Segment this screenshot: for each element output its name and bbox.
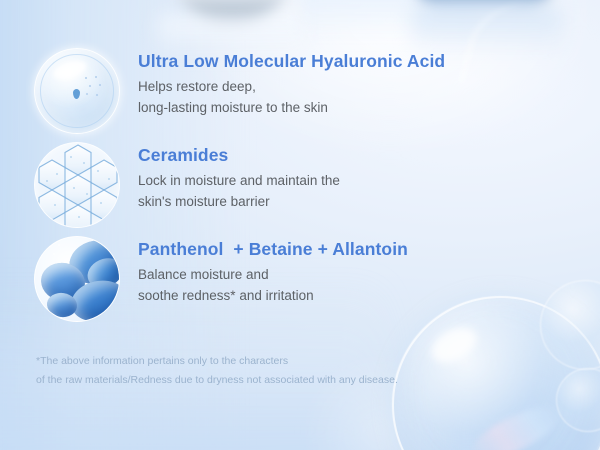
droplet-molecule-specks bbox=[83, 75, 105, 99]
blue-gel-capsules-icon bbox=[34, 236, 120, 322]
feature-title: Ultra Low Molecular Hyaluronic Acid bbox=[138, 50, 445, 72]
gel-capsules-body bbox=[34, 236, 120, 322]
footnote-line: *The above information pertains only to … bbox=[36, 352, 398, 371]
feature-text-block: Panthenol + Betaine + Allantoin Balance … bbox=[138, 236, 408, 306]
feature-description-line: Balance moisture and bbox=[138, 264, 408, 285]
feature-title: Ceramides bbox=[138, 144, 340, 166]
feature-row-hyaluronic-acid: Ultra Low Molecular Hyaluronic Acid Help… bbox=[34, 48, 445, 134]
feature-description-line: skin's moisture barrier bbox=[138, 191, 340, 212]
feature-description-line: Helps restore deep, bbox=[138, 76, 445, 97]
feature-description-line: soothe redness* and irritation bbox=[138, 285, 408, 306]
poster-content: Ultra Low Molecular Hyaluronic Acid Help… bbox=[0, 0, 600, 450]
honeycomb-barrier-icon bbox=[34, 142, 120, 228]
feature-row-panthenol: Panthenol + Betaine + Allantoin Balance … bbox=[34, 236, 408, 322]
droplet-sphere-body bbox=[34, 48, 120, 134]
feature-description-line: long-lasting moisture to the skin bbox=[138, 97, 445, 118]
gel-capsule-sparkle bbox=[47, 243, 65, 257]
footnote: *The above information pertains only to … bbox=[36, 352, 398, 390]
feature-description-line: Lock in moisture and maintain the bbox=[138, 170, 340, 191]
honeycomb-body bbox=[34, 142, 120, 228]
feature-text-block: Ultra Low Molecular Hyaluronic Acid Help… bbox=[138, 48, 445, 118]
feature-text-block: Ceramides Lock in moisture and maintain … bbox=[138, 142, 340, 212]
ingredient-poster: Ultra Low Molecular Hyaluronic Acid Help… bbox=[0, 0, 600, 450]
feature-row-ceramides: Ceramides Lock in moisture and maintain … bbox=[34, 142, 340, 228]
footnote-line: of the raw materials/Redness due to dryn… bbox=[36, 371, 398, 390]
feature-title: Panthenol + Betaine + Allantoin bbox=[138, 238, 408, 260]
water-droplet-sphere-icon bbox=[34, 48, 120, 134]
